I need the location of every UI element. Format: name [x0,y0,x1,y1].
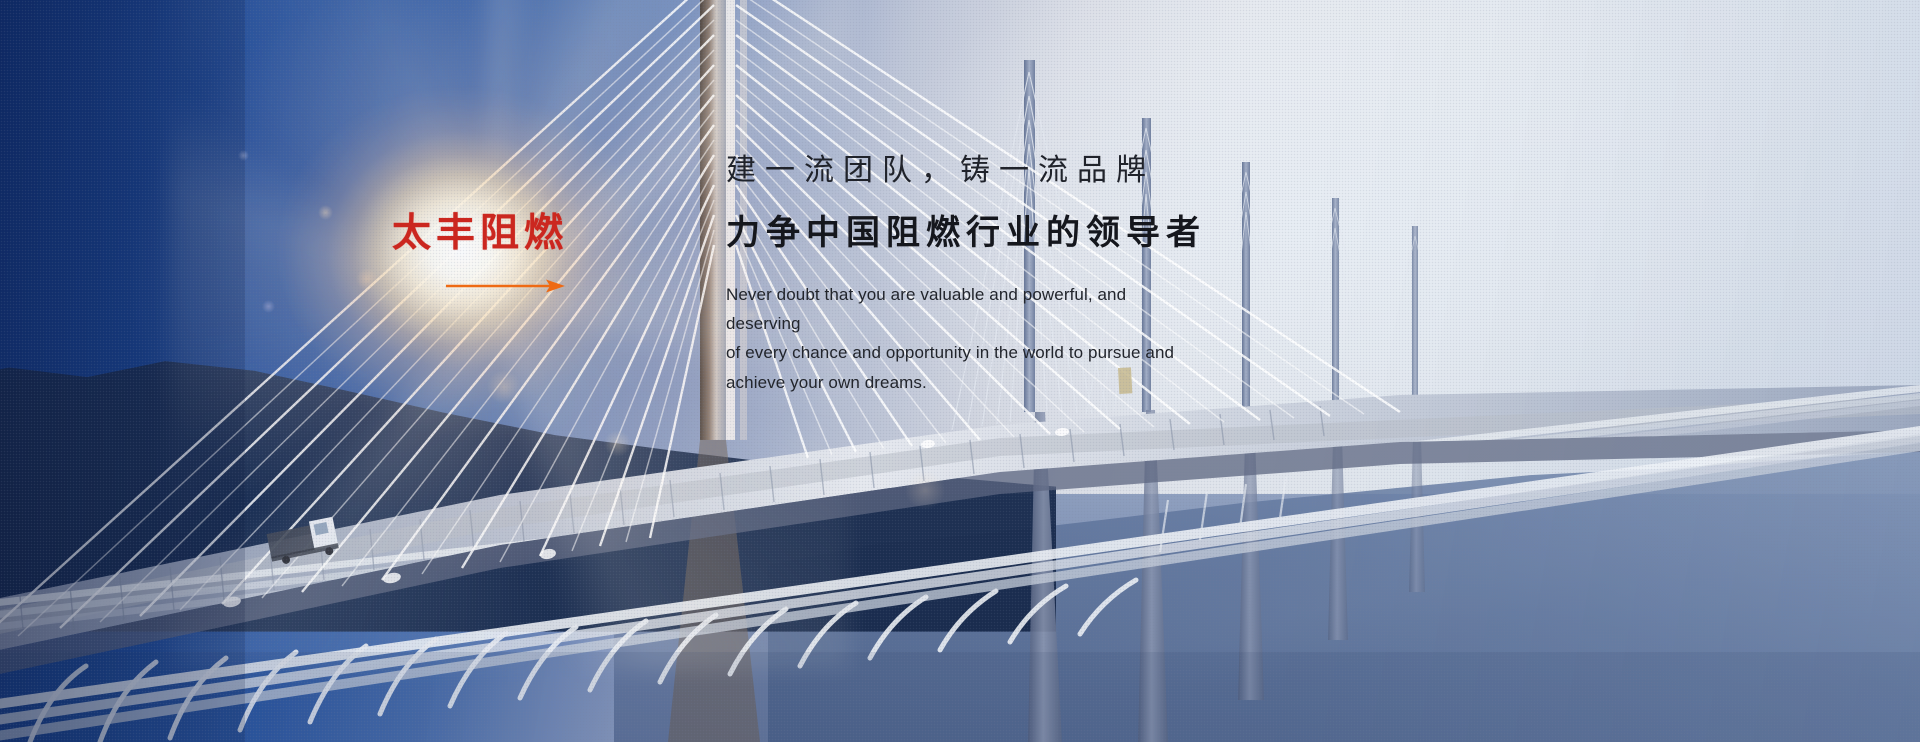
slogan-english-line: of every chance and opportunity in the w… [726,338,1196,367]
slogan-block: 建一流团队，铸一流品牌 力争中国阻燃行业的领导者 Never doubt tha… [726,152,1446,397]
brand-logo[interactable]: 太丰阻燃 [380,214,580,296]
brand-logo-text: 太丰阻燃 [380,214,580,253]
slogan-english-paragraph: Never doubt that you are valuable and po… [726,280,1196,397]
slogan-english-line: Never doubt that you are valuable and po… [726,280,1196,338]
slogan-line-primary: 建一流团队，铸一流品牌 [726,152,1446,190]
slogan-line-secondary: 力争中国阻燃行业的领导者 [726,212,1446,255]
arrow-right-icon [446,276,566,296]
slogan-english-line: achieve your own dreams. [726,368,1196,397]
hero-banner: 太丰阻燃 建一流团队，铸一流品牌 力争中国阻燃行业的领导者 Never doub… [0,0,1920,742]
